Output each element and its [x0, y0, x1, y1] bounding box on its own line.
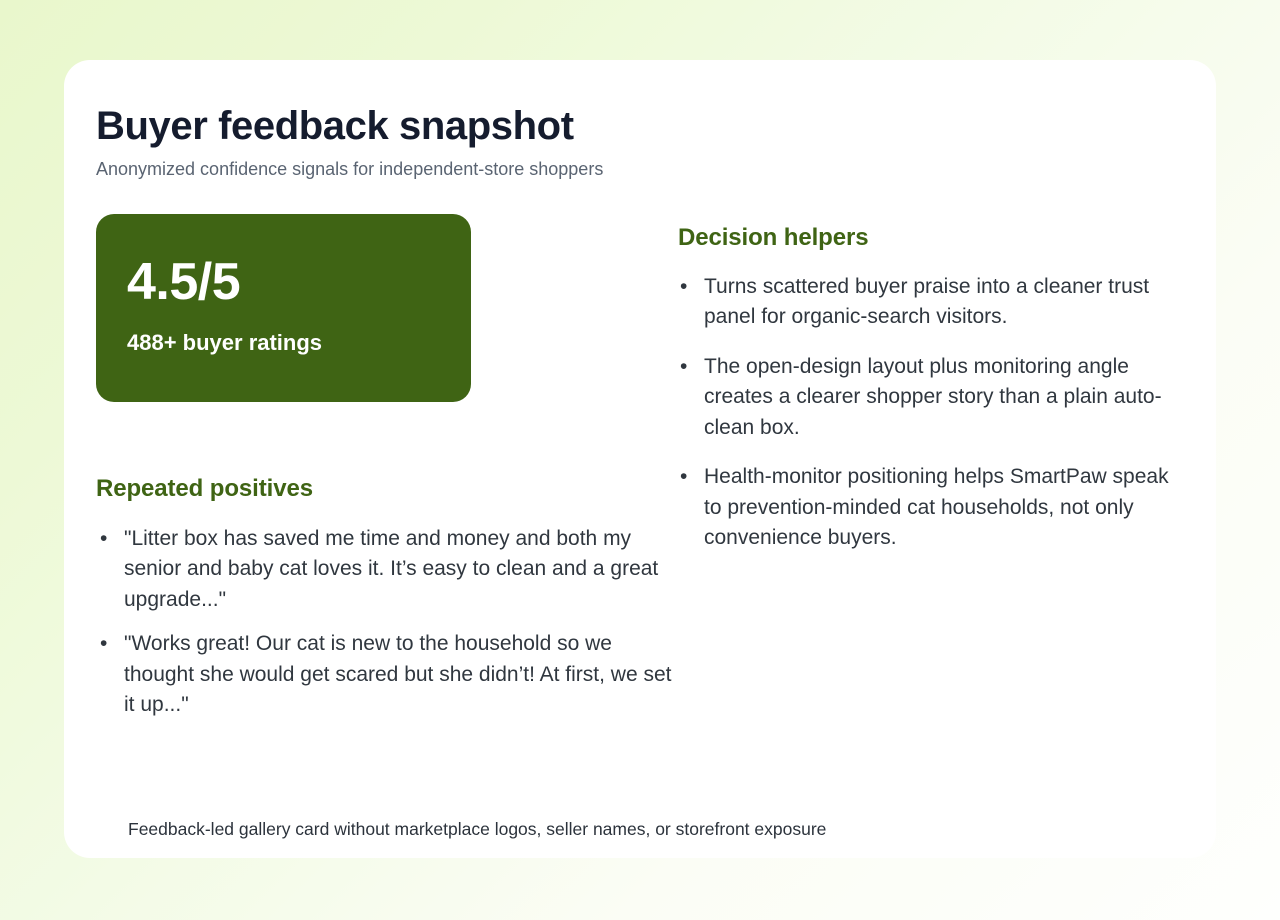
page-title: Buyer feedback snapshot — [96, 104, 1184, 149]
repeated-positives-list: • "Litter box has saved me time and mone… — [96, 524, 678, 721]
repeated-positives-heading: Repeated positives — [96, 475, 678, 504]
bullet-dot-icon: • — [680, 462, 687, 493]
bullet-dot-icon: • — [680, 352, 687, 383]
page-background: Buyer feedback snapshot Anonymized confi… — [0, 0, 1280, 920]
decision-helpers-list: • Turns scattered buyer praise into a cl… — [678, 272, 1184, 554]
rating-badge: 4.5/5 488+ buyer ratings — [96, 214, 471, 402]
list-item-text: "Litter box has saved me time and money … — [124, 527, 658, 611]
list-item: • "Works great! Our cat is new to the ho… — [96, 629, 678, 721]
list-item: • The open-design layout plus monitoring… — [678, 352, 1184, 444]
feedback-snapshot-card: Buyer feedback snapshot Anonymized confi… — [64, 60, 1216, 858]
page-subtitle: Anonymized confidence signals for indepe… — [96, 158, 1184, 181]
right-column: Decision helpers • Turns scattered buyer… — [678, 214, 1184, 573]
left-column: 4.5/5 488+ buyer ratings Repeated positi… — [96, 214, 678, 721]
bullet-dot-icon: • — [680, 272, 687, 303]
bullet-dot-icon: • — [100, 524, 107, 555]
list-item: • Turns scattered buyer praise into a cl… — [678, 272, 1184, 333]
card-footer: Feedback-led gallery card without market… — [128, 818, 1216, 858]
list-item-text: The open-design layout plus monitoring a… — [704, 355, 1162, 439]
list-item: • "Litter box has saved me time and mone… — [96, 524, 678, 616]
list-item: • Health-monitor positioning helps Smart… — [678, 462, 1184, 554]
bullet-dot-icon: • — [100, 629, 107, 660]
rating-score: 4.5/5 — [127, 256, 471, 308]
rating-count-label: 488+ buyer ratings — [127, 330, 471, 356]
footer-note: Feedback-led gallery card without market… — [128, 818, 1216, 841]
list-item-text: "Works great! Our cat is new to the hous… — [124, 632, 672, 716]
decision-helpers-heading: Decision helpers — [678, 224, 1184, 253]
list-item-text: Health-monitor positioning helps SmartPa… — [704, 465, 1169, 549]
card-content: Buyer feedback snapshot Anonymized confi… — [96, 104, 1184, 858]
list-item-text: Turns scattered buyer praise into a clea… — [704, 275, 1149, 329]
content-columns: 4.5/5 488+ buyer ratings Repeated positi… — [96, 214, 1184, 721]
